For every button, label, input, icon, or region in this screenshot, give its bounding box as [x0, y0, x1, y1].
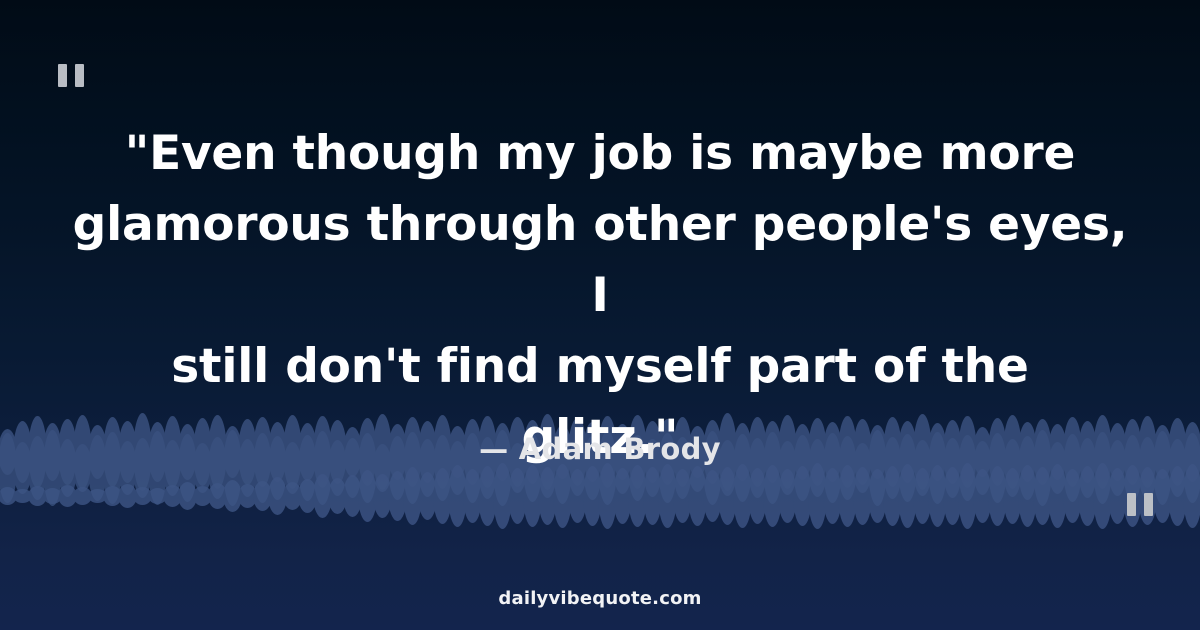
quote-text: "Even though my job is maybe more glamor…: [0, 118, 1200, 473]
quote-line: glamorous through other people's eyes, I: [60, 189, 1140, 331]
quote-line: "Even though my job is maybe more: [60, 118, 1140, 189]
quote-open-icon: [58, 64, 84, 87]
quote-close-bar-2: [1144, 493, 1153, 516]
quote-attribution: — Adam Brody: [0, 432, 1200, 466]
quote-line: still don't find myself part of the: [60, 331, 1140, 402]
quote-close-bar-1: [1127, 493, 1136, 516]
quote-open-bar-2: [75, 64, 84, 87]
quote-card: "Even though my job is maybe more glamor…: [0, 0, 1200, 630]
quote-close-icon: [1127, 493, 1153, 516]
site-watermark: dailyvibequote.com: [0, 588, 1200, 609]
quote-open-bar-1: [58, 64, 67, 87]
